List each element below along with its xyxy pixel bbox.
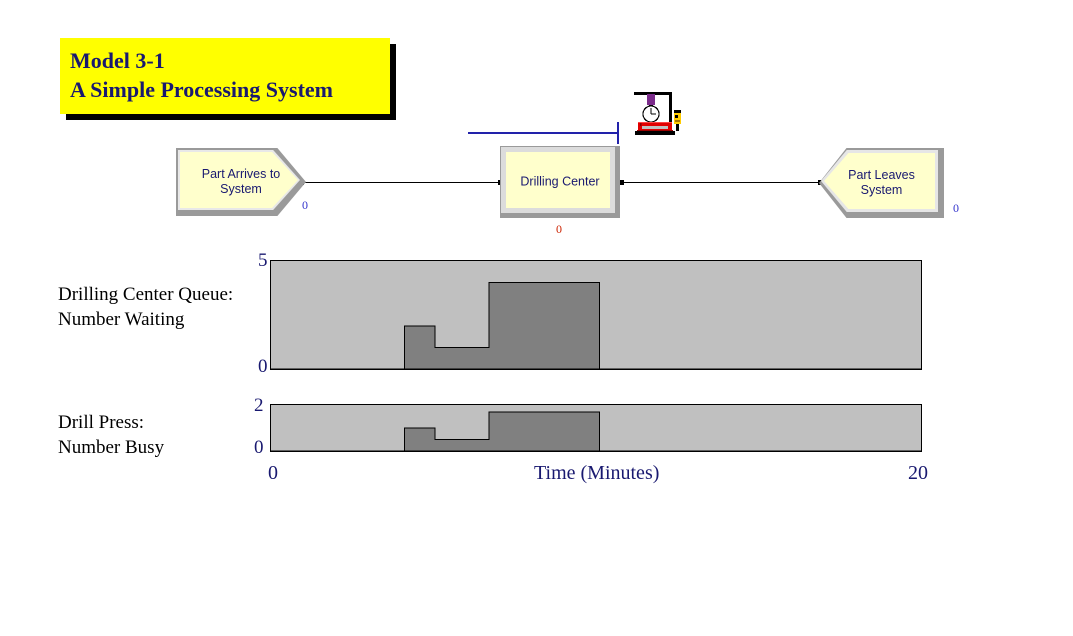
connector-process-to-leave [621, 182, 821, 183]
flowchart-node-part-arrives[interactable]: Part Arrives to System [176, 148, 306, 216]
counter-drilling-center: 0 [556, 222, 562, 237]
chart2-label-line-2: Number Busy [58, 435, 164, 460]
queue-line [468, 132, 618, 134]
chart2-y-min-label: 0 [254, 438, 264, 457]
chart2-plot-area [270, 404, 922, 452]
title-line-2: A Simple Processing System [70, 75, 390, 104]
chart1-label-line-1: Drilling Center Queue: [58, 282, 233, 307]
chart2-svg [271, 405, 921, 451]
node-face [506, 152, 610, 208]
drill-press-icon [628, 88, 686, 140]
counter-part-arrives: 0 [302, 198, 308, 213]
x-axis-min-label: 0 [268, 462, 278, 485]
chart2-label-line-1: Drill Press: [58, 410, 164, 435]
title-box: Model 3-1 A Simple Processing System [60, 38, 390, 114]
chart1-label-line-2: Number Waiting [58, 307, 233, 332]
queue-line-endcap [617, 122, 619, 144]
chart1-plot-area [270, 260, 922, 370]
flowchart-node-part-leaves[interactable]: Part Leaves System [819, 148, 944, 218]
chart1-svg [271, 261, 921, 369]
counter-part-leaves: 0 [953, 201, 959, 216]
chart1-y-min-label: 0 [258, 357, 268, 376]
chart2-y-max-label: 2 [254, 396, 264, 415]
slide-canvas: Model 3-1 A Simple Processing System [0, 0, 1073, 636]
x-axis-max-label: 20 [908, 462, 928, 485]
title-line-1: Model 3-1 [70, 46, 390, 75]
flowchart-node-drilling-center[interactable]: Drilling Center [500, 146, 620, 218]
chart1-label: Drilling Center Queue: Number Waiting [58, 282, 233, 332]
chart2-label: Drill Press: Number Busy [58, 410, 164, 460]
chart1-y-max-label: 5 [258, 251, 268, 270]
x-axis-title: Time (Minutes) [534, 462, 659, 485]
connector-arrive-to-process [301, 182, 501, 183]
